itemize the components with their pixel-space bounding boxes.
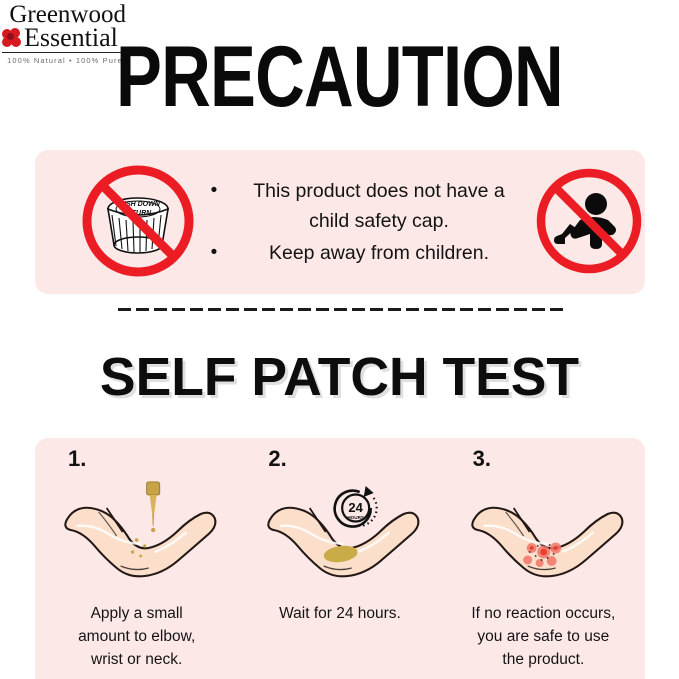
arm-with-skin-reaction-rash-icon [442,468,645,590]
step-2-caption-line-1: Wait for 24 hours. [242,602,437,625]
step-number-2: 2. [268,448,286,470]
step-3-caption: If no reaction occurs, you are safe to u… [446,602,641,671]
page-title-precaution: PRECAUTION [68,33,611,121]
patch-test-step-2: 2. [238,438,441,679]
dashed-divider [118,308,564,311]
no-child-safety-cap-icon: PUSH DOWN & TURN [78,161,198,281]
step-1-caption-line-3: wrist or neck. [39,648,234,671]
arm-with-oil-patch-and-24-hours-clock-icon: 24 HOURS [238,468,441,590]
step-1-caption-line-2: amount to elbow, [39,625,234,648]
step-3-caption-line-3: the product. [446,648,641,671]
patch-test-step-1: 1. [35,438,238,679]
step-3-caption-line-2: you are safe to use [446,625,641,648]
bullet-text-1: This product does not have a [225,176,533,206]
step-number-1: 1. [68,448,86,470]
step-2-caption: Wait for 24 hours. [242,602,437,625]
arm-with-dropper-icon [35,468,238,590]
twenty-four-hours-badge: 24 HOURS [335,486,377,527]
bullet-marker: • [203,238,225,268]
badge-unit: HOURS [348,515,365,520]
flower-icon [2,28,22,48]
step-1-caption: Apply a small amount to elbow, wrist or … [39,602,234,671]
precaution-bullet-list: • This product does not have a child saf… [203,176,533,268]
badge-value: 24 [349,500,364,515]
patch-test-steps: 1. [35,438,645,679]
step-number-3: 3. [473,448,491,470]
page-title-self-patch-test: SELF PATCH TEST [3,348,675,406]
no-children-crawling-baby-icon [532,164,646,278]
step-3-caption-line-1: If no reaction occurs, [446,602,641,625]
bullet-text-1-cont: child safety cap. [225,206,533,236]
precaution-panel: PUSH DOWN & TURN • This product does not… [35,150,645,294]
bullet-text-2: Keep away from children. [225,238,533,268]
step-1-caption-line-1: Apply a small [39,602,234,625]
bullet-marker: • [203,176,225,206]
patch-test-step-3: 3. [442,438,645,679]
